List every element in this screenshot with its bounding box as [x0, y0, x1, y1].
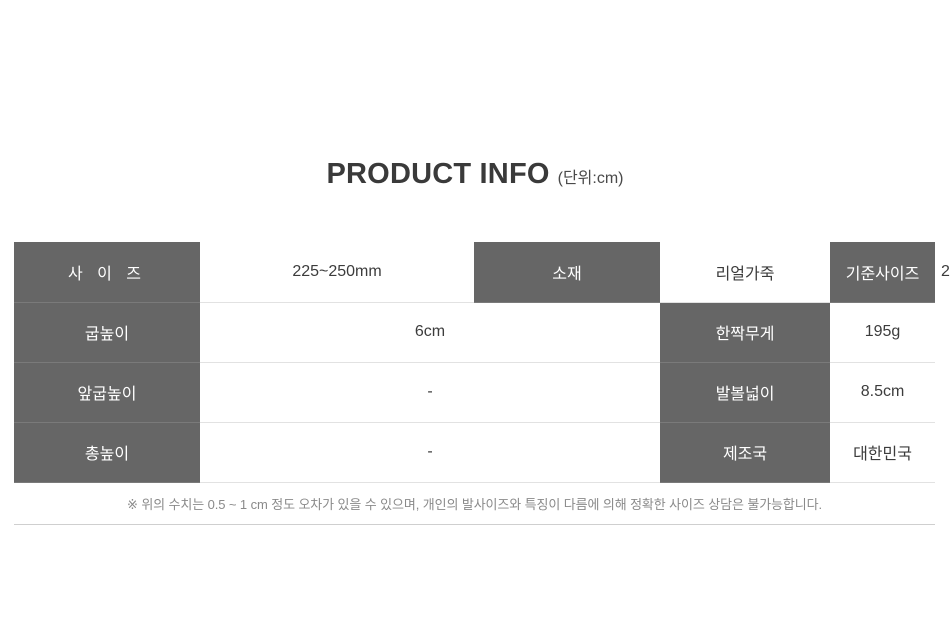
size-disclaimer-note: ※ 위의 수치는 0.5 ~ 1 cm 정도 오차가 있을 수 있으며, 개인의… [14, 482, 935, 524]
table-row: 총높이 - 제조국 대한민국 [14, 422, 935, 482]
spec-label-standard-size: 기준사이즈 [830, 242, 935, 302]
table-row: 사 이 즈 225~250mm 소재 리얼가죽 기준사이즈 240mm [14, 242, 935, 302]
product-info-page: PRODUCT INFO(단위:cm) 사 이 즈 225~250mm 소재 리… [0, 0, 950, 644]
product-spec-table: 사 이 즈 225~250mm 소재 리얼가죽 기준사이즈 240mm 굽높이 … [14, 242, 935, 525]
table-note-row: ※ 위의 수치는 0.5 ~ 1 cm 정도 오차가 있을 수 있으며, 개인의… [14, 482, 935, 524]
spec-value-material: 리얼가죽 [660, 242, 830, 302]
spec-value-size: 225~250mm [200, 242, 474, 302]
spec-value-heel-height: 6cm [200, 302, 660, 362]
spec-value-total-height: - [200, 422, 660, 482]
spec-value-front-heel-height: - [200, 362, 660, 422]
spec-label-foot-width: 발볼넓이 [660, 362, 830, 422]
spec-label-size: 사 이 즈 [14, 242, 200, 302]
spec-value-country-of-origin: 대한민국 [830, 422, 935, 482]
spec-label-material: 소재 [474, 242, 660, 302]
spec-label-single-weight: 한짝무게 [660, 302, 830, 362]
spec-label-size-text: 사 이 즈 [68, 266, 146, 283]
spec-label-total-height: 총높이 [14, 422, 200, 482]
spec-value-foot-width: 8.5cm [830, 362, 935, 422]
page-title-main: PRODUCT INFO [327, 158, 550, 190]
table-row: 앞굽높이 - 발볼넓이 8.5cm [14, 362, 935, 422]
spec-value-single-weight: 195g [830, 302, 935, 362]
spec-label-front-heel-height: 앞굽높이 [14, 362, 200, 422]
page-title: PRODUCT INFO(단위:cm) [0, 158, 950, 191]
spec-label-country-of-origin: 제조국 [660, 422, 830, 482]
page-title-unit: (단위:cm) [558, 170, 624, 187]
spec-label-heel-height: 굽높이 [14, 302, 200, 362]
table-row: 굽높이 6cm 한짝무게 195g [14, 302, 935, 362]
